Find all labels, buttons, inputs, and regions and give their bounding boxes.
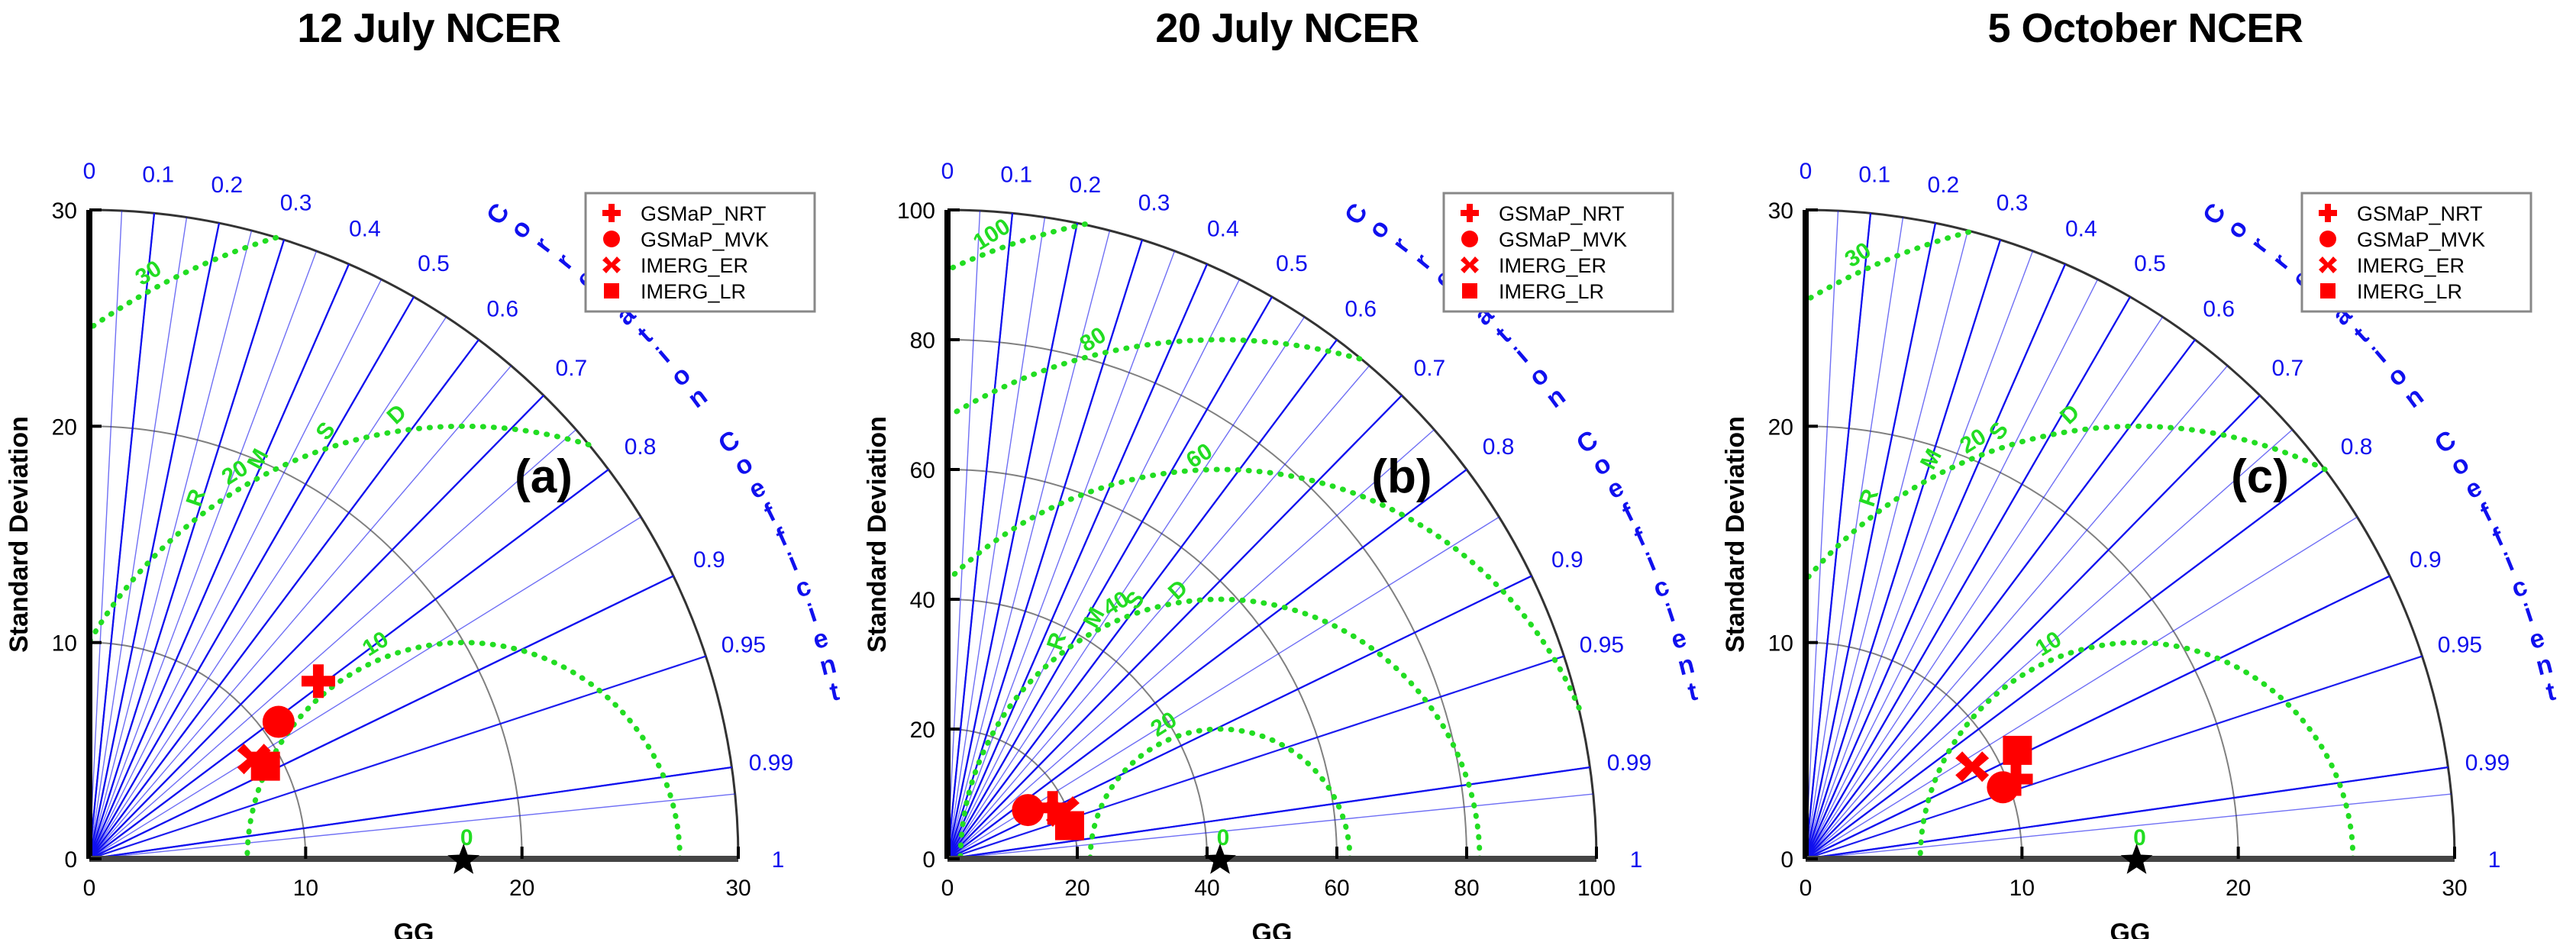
- x-tick-label: 0: [83, 876, 96, 901]
- corr-tick-label: 0.1: [1858, 163, 1890, 188]
- y-tick-label: 30: [52, 198, 77, 224]
- y-tick-label: 60: [910, 458, 935, 483]
- corr-tick-label: 0.9: [2410, 547, 2442, 573]
- x-tick-label: 30: [725, 876, 751, 901]
- corr-tick-label: 0.99: [1607, 750, 1651, 776]
- legend-label: IMERG_LR: [641, 280, 746, 303]
- rmsd-zero-label: 0: [460, 825, 473, 850]
- legend-label: GSMaP_MVK: [1499, 228, 1627, 251]
- corr-tick-label: 0.6: [486, 296, 518, 321]
- y-tick-label: 20: [52, 415, 77, 440]
- y-tick-label: 20: [1768, 415, 1793, 440]
- corr-tick-label: 0.8: [625, 434, 657, 460]
- data-marker-circle: [263, 706, 295, 738]
- legend-label: GSMaP_NRT: [1499, 202, 1625, 225]
- x-tick-label: 20: [509, 876, 534, 901]
- correlation-axis-label-char: i: [784, 547, 802, 577]
- corr-tick-label: 0.1: [1000, 163, 1032, 188]
- corr-tick-label: 1: [1630, 847, 1643, 873]
- y-tick-label: 0: [1780, 847, 1793, 873]
- legend-label: IMERG_ER: [1499, 254, 1606, 277]
- x-tick-label: 10: [293, 876, 318, 901]
- legend-label: IMERG_ER: [2357, 254, 2465, 277]
- correlation-axis-label-char: n: [817, 650, 839, 682]
- legend-marker-square: [604, 283, 619, 298]
- reference-point-star: [2121, 844, 2153, 874]
- rmsd-axis-label-char: D: [383, 399, 412, 429]
- corr-tick-label: 0.2: [1070, 173, 1102, 198]
- x-tick-label: 100: [1577, 876, 1616, 901]
- corr-tick-label: 0.99: [2465, 750, 2510, 776]
- corr-tick-label: 0.3: [1997, 191, 2029, 216]
- y-tick-label: 0: [64, 847, 77, 873]
- correlation-axis-label-char: n: [1675, 650, 1697, 682]
- y-axis-title: Standard Deviation: [1721, 416, 1750, 653]
- corr-tick-label: 0.2: [211, 173, 244, 198]
- y-tick-label: 10: [52, 631, 77, 657]
- x-axis-title: GG: [2110, 918, 2151, 939]
- corr-tick-label: 0.5: [2134, 251, 2166, 276]
- data-marker-square: [2003, 736, 2032, 765]
- panel-a: 12 July NCER 00.10.20.30.40.50.60.70.80.…: [0, 0, 858, 939]
- legend: GSMaP_NRTGSMaP_MVKIMERG_ERIMERG_LR: [586, 193, 815, 311]
- legend-label: IMERG_ER: [641, 254, 748, 277]
- panel-tag: (b): [1371, 450, 1432, 503]
- legend-marker-circle: [1461, 231, 1478, 247]
- x-tick-label: 60: [1324, 876, 1349, 901]
- reference-point-star: [447, 844, 479, 874]
- taylor-plot-a: 00.10.20.30.40.50.60.70.80.90.950.991Cor…: [0, 0, 858, 939]
- x-tick-label: 10: [2009, 876, 2035, 901]
- legend-label: IMERG_LR: [2357, 280, 2462, 303]
- legend-marker-circle: [603, 231, 620, 247]
- corr-tick-label: 0.4: [349, 216, 381, 241]
- x-axis-title: GG: [394, 918, 434, 939]
- legend-marker-square: [1462, 283, 1477, 298]
- x-tick-label: 0: [941, 876, 954, 901]
- y-tick-label: 80: [910, 328, 935, 353]
- correlation-axis-label-char: t: [2543, 677, 2558, 708]
- corr-tick-label: 0.1: [142, 163, 174, 188]
- rmsd-zero-label: 0: [2133, 825, 2146, 850]
- x-tick-label: 20: [2226, 876, 2251, 901]
- legend-label: GSMaP_MVK: [2357, 228, 2485, 251]
- corr-tick-label: 0: [941, 159, 954, 184]
- panel-b: 20 July NCER 00.10.20.30.40.50.60.70.80.…: [858, 0, 1716, 939]
- corr-tick-label: 0.5: [418, 251, 450, 276]
- data-marker-circle: [1987, 771, 2019, 803]
- rmsd-contour-label: 100: [969, 214, 1015, 256]
- corr-tick-label: 0.3: [1138, 191, 1170, 216]
- data-marker-plus: [302, 664, 335, 698]
- corr-tick-label: 0.8: [2341, 434, 2373, 460]
- rmsd-axis-label-char: S: [311, 418, 340, 445]
- correlation-axis-label-char: i: [804, 599, 820, 628]
- x-tick-label: 0: [1800, 876, 1813, 901]
- y-tick-label: 10: [1768, 631, 1793, 657]
- corr-tick-label: 0: [1800, 159, 1813, 184]
- y-axis-title: Standard Deviation: [863, 416, 892, 653]
- corr-tick-label: 0: [83, 159, 96, 184]
- corr-tick-label: 0.8: [1483, 434, 1515, 460]
- correlation-axis-label-char: i: [1642, 547, 1660, 577]
- corr-tick-label: 0.99: [749, 750, 793, 776]
- x-tick-label: 20: [1064, 876, 1089, 901]
- corr-tick-label: 0.7: [2272, 356, 2304, 381]
- data-marker-square: [251, 752, 280, 781]
- taylor-plot-c: 00.10.20.30.40.50.60.70.80.90.950.991Cor…: [1716, 0, 2574, 939]
- x-tick-label: 40: [1194, 876, 1219, 901]
- corr-tick-label: 0.2: [1928, 173, 1960, 198]
- correlation-axis-label-char: i: [2520, 599, 2536, 628]
- panel-tag: (c): [2231, 450, 2289, 503]
- x-axis-title: GG: [1252, 918, 1293, 939]
- y-tick-label: 0: [922, 847, 935, 873]
- data-marker-circle: [1012, 794, 1044, 826]
- corr-tick-label: 0.4: [2065, 216, 2097, 241]
- corr-tick-label: 0.4: [1207, 216, 1239, 241]
- rmsd-contour-label: 30: [131, 256, 166, 291]
- x-tick-label: 30: [2442, 876, 2467, 901]
- legend-marker-square: [2320, 283, 2336, 298]
- y-tick-label: 40: [910, 588, 935, 613]
- corr-tick-label: 0.6: [1344, 296, 1377, 321]
- legend-label: GSMaP_NRT: [2357, 202, 2483, 225]
- correlation-axis-label-char: n: [2533, 650, 2555, 682]
- taylor-diagram-figure: 12 July NCER 00.10.20.30.40.50.60.70.80.…: [0, 0, 2576, 939]
- legend: GSMaP_NRTGSMaP_MVKIMERG_ERIMERG_LR: [2302, 193, 2531, 311]
- x-tick-label: 80: [1454, 876, 1479, 901]
- corr-tick-label: 0.3: [280, 191, 312, 216]
- corr-tick-label: 0.5: [1276, 251, 1308, 276]
- legend: GSMaP_NRTGSMaP_MVKIMERG_ERIMERG_LR: [1444, 193, 1673, 311]
- data-marker-square: [1055, 812, 1084, 841]
- y-tick-label: 20: [910, 718, 935, 743]
- correlation-axis-label-char: i: [2500, 547, 2518, 577]
- rmsd-axis-label-char: R: [1042, 629, 1071, 653]
- legend-marker-circle: [2319, 231, 2336, 247]
- correlation-axis-label-char: t: [1685, 677, 1700, 708]
- rmsd-zero-label: 0: [1217, 825, 1230, 850]
- corr-tick-label: 0.6: [2203, 296, 2235, 321]
- corr-tick-label: 0.9: [693, 547, 725, 573]
- panel-c: 5 October NCER 00.10.20.30.40.50.60.70.8…: [1716, 0, 2574, 939]
- correlation-axis-label-char: i: [1662, 599, 1678, 628]
- corr-tick-label: 0.9: [1551, 547, 1583, 573]
- corr-tick-label: 0.7: [556, 356, 588, 381]
- reference-point-star: [1204, 844, 1236, 874]
- corr-tick-label: 0.95: [1580, 632, 1624, 657]
- y-tick-label: 30: [1768, 198, 1793, 224]
- y-axis-title: Standard Deviation: [5, 416, 34, 653]
- panel-tag: (a): [515, 450, 573, 503]
- legend-label: GSMaP_NRT: [641, 202, 767, 225]
- corr-tick-label: 1: [772, 847, 785, 873]
- rmsd-axis-label-char: D: [2055, 399, 2084, 429]
- correlation-axis-label-char: t: [827, 677, 841, 708]
- legend-label: GSMaP_MVK: [641, 228, 769, 251]
- corr-tick-label: 0.95: [2438, 632, 2482, 657]
- y-tick-label: 100: [897, 198, 935, 224]
- corr-tick-label: 1: [2488, 847, 2501, 873]
- corr-tick-label: 0.95: [721, 632, 766, 657]
- legend-label: IMERG_LR: [1499, 280, 1604, 303]
- corr-tick-label: 0.7: [1414, 356, 1446, 381]
- taylor-plot-b: 00.10.20.30.40.50.60.70.80.90.950.991Cor…: [858, 0, 1716, 939]
